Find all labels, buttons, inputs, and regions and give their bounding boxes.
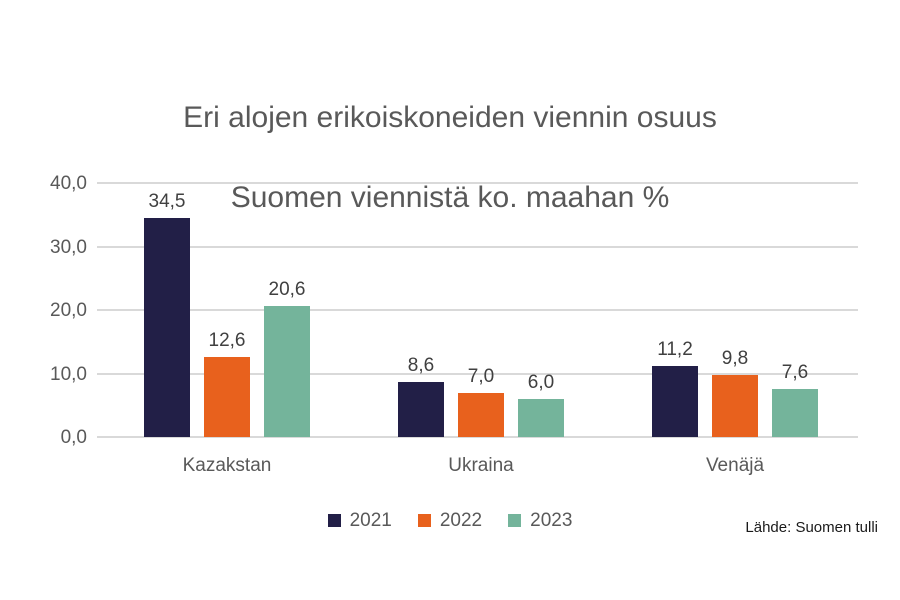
- gridline: [97, 246, 858, 248]
- source-note: Lähde: Suomen tulli: [745, 519, 878, 537]
- bar-value-label: 12,6: [192, 331, 262, 350]
- y-axis-tick-label: 40,0: [17, 174, 87, 193]
- bar-value-label: 6,0: [506, 373, 576, 392]
- bar-2023-Kazakstan[interactable]: [264, 306, 310, 437]
- bar-2021-Venäjä[interactable]: [652, 366, 698, 437]
- legend-label: 2023: [530, 511, 572, 530]
- legend-swatch-icon: [418, 514, 431, 527]
- y-axis-tick-label: 30,0: [17, 238, 87, 257]
- bar-2022-Kazakstan[interactable]: [204, 357, 250, 437]
- legend-label: 2021: [350, 511, 392, 530]
- bar-value-label: 20,6: [252, 280, 322, 299]
- bar-2021-Ukraina[interactable]: [398, 382, 444, 437]
- y-axis-tick-label: 0,0: [17, 428, 87, 447]
- chart-title-line-1: Eri alojen erikoiskoneiden viennin osuus: [183, 101, 717, 134]
- gridline: [97, 182, 858, 184]
- y-axis: 0,010,020,030,040,0: [9, 183, 87, 437]
- gridline: [97, 309, 858, 311]
- legend-label: 2022: [440, 511, 482, 530]
- legend-item-2021[interactable]: 2021: [328, 511, 392, 530]
- bar-2022-Venäjä[interactable]: [712, 375, 758, 437]
- legend-item-2023[interactable]: 2023: [508, 511, 572, 530]
- bar-2023-Venäjä[interactable]: [772, 389, 818, 437]
- bar-2023-Ukraina[interactable]: [518, 399, 564, 437]
- x-axis-category-label: Kazakstan: [104, 455, 350, 477]
- bar-2022-Ukraina[interactable]: [458, 393, 504, 437]
- bar-value-label: 34,5: [132, 192, 202, 211]
- x-axis-category-label: Venäjä: [612, 455, 858, 477]
- legend-item-2022[interactable]: 2022: [418, 511, 482, 530]
- bar-2021-Kazakstan[interactable]: [144, 218, 190, 437]
- bar-value-label: 7,6: [760, 363, 830, 382]
- plot-area: 34,512,620,68,67,06,011,29,87,6: [97, 183, 858, 437]
- legend-swatch-icon: [328, 514, 341, 527]
- legend-swatch-icon: [508, 514, 521, 527]
- x-axis-category-label: Ukraina: [358, 455, 604, 477]
- y-axis-tick-label: 20,0: [17, 301, 87, 320]
- y-axis-tick-label: 10,0: [17, 365, 87, 384]
- bar-chart: Eri alojen erikoiskoneiden viennin osuus…: [0, 0, 900, 600]
